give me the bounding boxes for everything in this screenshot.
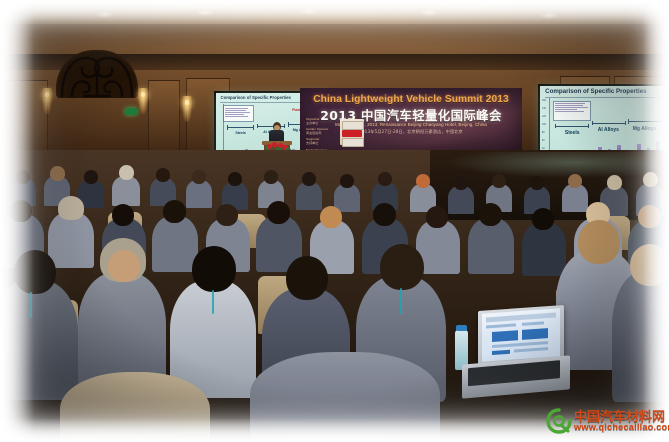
right-group-label-mg: Mg Alloys <box>628 126 662 132</box>
audience-head <box>643 172 658 187</box>
audience-head <box>492 174 506 188</box>
stage-banner: China Lightweight Vehicle Summit 2013 20… <box>300 88 522 152</box>
ceiling-downlight <box>300 8 318 15</box>
left-group-label-steels: Steels <box>227 131 254 135</box>
ceiling-downlight <box>196 9 214 16</box>
audience-head <box>16 170 30 184</box>
wall-sconce <box>138 88 148 114</box>
sponsor-row: Golden Sponsor 黄金赞助商 <box>306 128 336 136</box>
sponsor-label-cn: 主办单位 <box>306 122 336 126</box>
audience-head <box>530 176 544 190</box>
right-y-tick: 80 <box>542 131 545 134</box>
right-y-tick: 140 <box>542 107 546 110</box>
audience-head <box>108 250 140 282</box>
audience-head <box>156 168 170 182</box>
audience-member <box>48 212 94 268</box>
audience-head <box>320 206 342 228</box>
wall-sconce <box>182 96 192 122</box>
audience-member <box>186 180 212 208</box>
audience-head <box>112 204 134 226</box>
conference-photograph: Comparison of Specific Properties Steels… <box>0 0 669 442</box>
right-y-tick: 60 <box>542 139 545 142</box>
audience-head <box>568 174 582 188</box>
audience-head <box>286 256 328 300</box>
audience-member-foreground <box>250 352 440 442</box>
ironwork-scrollwork-icon <box>58 52 136 98</box>
audience-hair <box>58 196 84 220</box>
screenshot-root: Comparison of Specific Properties Steels… <box>0 0 669 442</box>
audience-head <box>479 203 502 226</box>
laptop-screen[interactable] <box>482 308 560 361</box>
audience-member <box>448 186 474 214</box>
right-group-marker-steels <box>555 126 589 127</box>
audience-head <box>50 166 65 181</box>
audience-member <box>296 182 322 210</box>
audience-head <box>163 200 186 223</box>
banner-title-english: China Lightweight Vehicle Summit 2013 <box>300 94 522 105</box>
audience-head <box>373 203 396 226</box>
audience-head <box>216 204 238 226</box>
audience-head <box>532 208 554 230</box>
audience-head <box>380 244 424 290</box>
right-y-tick: 100 <box>542 123 546 126</box>
screen-light-spill <box>445 152 660 178</box>
sponsor-row: Organizer 主办单位 <box>306 118 336 126</box>
audience-member <box>612 272 669 402</box>
ceiling-downlight <box>540 12 558 19</box>
audience-head <box>416 174 430 188</box>
watermark: 中国汽车材料网 www.qichecaillao.com <box>546 404 664 438</box>
sponsor-label-cn: 黄金赞助商 <box>306 132 336 136</box>
right-slide-title: Comparison of Specific Properties <box>545 88 664 95</box>
water-bottle-cap <box>456 325 467 331</box>
right-slide-rule <box>545 97 664 98</box>
sponsor-logo-tms <box>342 130 362 137</box>
sponsor-logo <box>342 138 364 147</box>
audience-head <box>14 250 56 294</box>
lanyard <box>212 290 214 314</box>
qichecailiao-logo-icon <box>546 408 572 434</box>
ceiling-downlight <box>96 11 114 18</box>
sponsor-label-cn: 支持单位 <box>306 142 336 146</box>
audience-head <box>84 170 98 184</box>
audience-member <box>562 184 588 212</box>
wall-sconce <box>42 88 52 114</box>
audience-member <box>152 216 198 272</box>
sponsor-label-column: Organizer 主办单位 Golden Sponsor 黄金赞助商 Supp… <box>306 118 336 152</box>
sponsor-row: Supporter 支持单位 <box>306 138 336 146</box>
audience-head <box>607 175 622 190</box>
audience-head <box>228 172 242 186</box>
audience-head <box>638 205 661 228</box>
audience-member <box>522 222 566 276</box>
right-group-marker-mg <box>628 121 662 122</box>
audience-head <box>192 170 206 184</box>
audience-head <box>578 220 620 264</box>
laptop-keyboard[interactable] <box>468 360 560 386</box>
audience-head <box>267 201 290 224</box>
audience-head <box>340 174 354 188</box>
audience-member <box>468 218 514 274</box>
right-chart-legend <box>553 101 591 121</box>
audience-head <box>10 200 32 222</box>
right-group-label-al: Al Alloys <box>592 127 626 133</box>
sponsor-logo <box>342 121 364 130</box>
lanyard <box>400 288 402 314</box>
exit-sign <box>125 108 137 115</box>
right-group-marker-al <box>592 123 626 124</box>
audience-head <box>264 170 278 184</box>
lanyard <box>30 292 32 318</box>
right-group-label-steels: Steels <box>555 130 589 136</box>
audience-head <box>119 165 134 180</box>
audience-head <box>192 246 236 292</box>
left-chart-legend <box>223 105 254 121</box>
audience-member-foreground <box>60 372 210 442</box>
audience-head <box>454 176 468 190</box>
left-group-marker-steels <box>227 127 254 128</box>
sponsor-logo-block <box>340 119 364 145</box>
audience-member <box>0 280 78 400</box>
watermark-url: www.qichecaillao.com <box>574 422 669 432</box>
right-y-tick: 160 <box>542 99 546 102</box>
audience-head <box>426 206 448 228</box>
audience-head <box>378 172 392 186</box>
audience-member <box>112 176 140 206</box>
audience-head <box>630 244 669 286</box>
wall-panel <box>148 80 180 152</box>
audience-head <box>302 172 316 186</box>
right-y-tick: 120 <box>542 115 546 118</box>
ceiling-downlight <box>420 9 438 16</box>
